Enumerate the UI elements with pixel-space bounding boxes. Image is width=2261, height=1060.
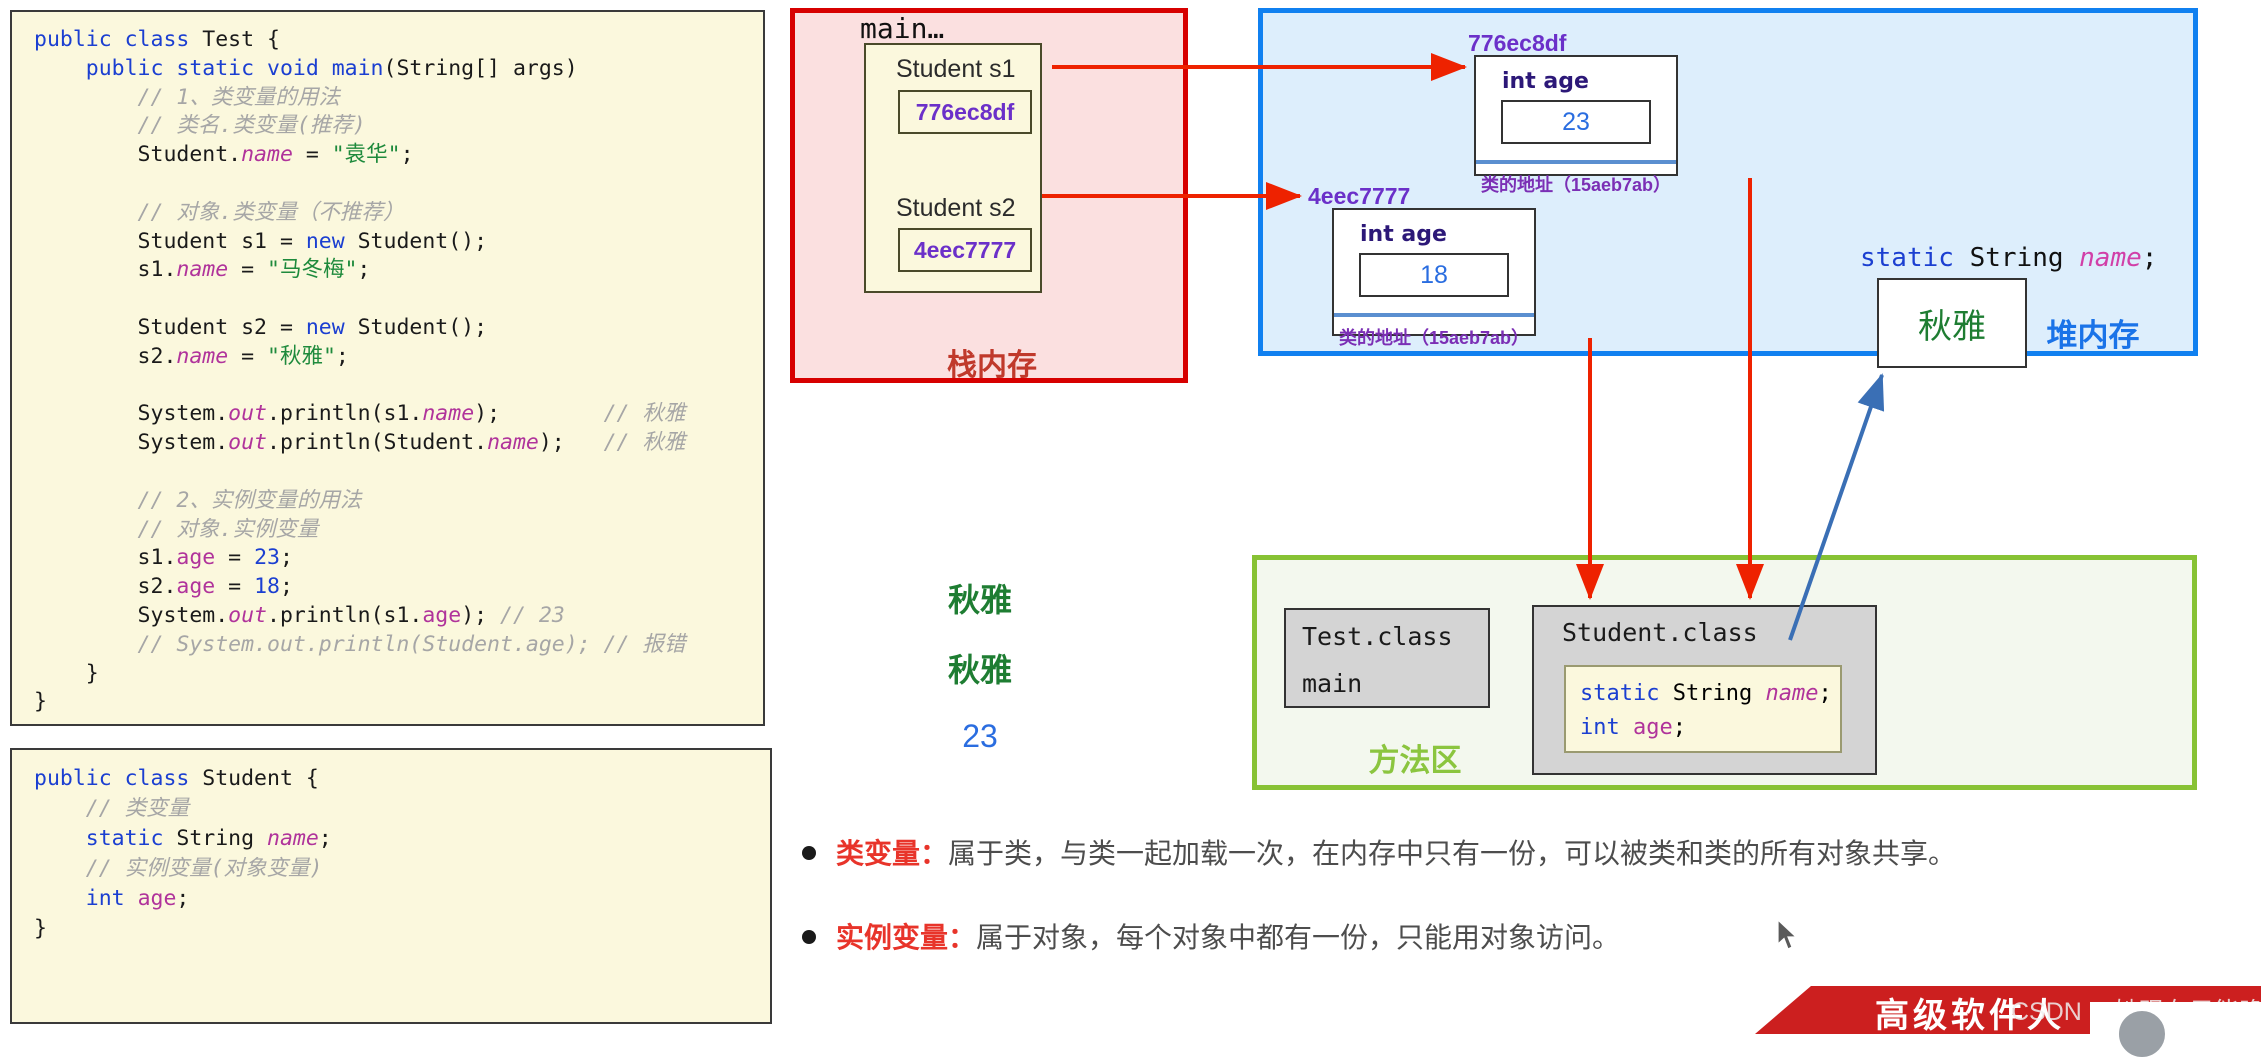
bullet-item-instance-variable: 实例变量：属于对象，每个对象中都有一份，只能用对象访问。 — [802, 916, 2232, 956]
code-line: // 实例变量(对象变量) — [34, 854, 770, 884]
heap-object-1: int age 23 类的地址（15aeb7ab） — [1474, 55, 1678, 176]
static-type: String — [1954, 243, 2079, 273]
code-line: // 类名.类变量(推荐) — [34, 112, 763, 141]
code-token — [34, 56, 86, 81]
stack-var-s2-name: Student s2 — [896, 194, 1016, 223]
code-token: "秋雅" — [267, 344, 336, 369]
code-line: Student.name = "袁华"; — [34, 141, 763, 170]
bullet-term-instance-variable: 实例变量： — [836, 922, 976, 953]
student-class-title: Student.class — [1562, 618, 1875, 647]
code-token: public static void main — [86, 56, 384, 81]
code-token: String — [1659, 681, 1765, 706]
code-token: 18 — [254, 574, 280, 599]
code-token: out — [228, 430, 267, 455]
code-token: ); — [461, 603, 500, 628]
code-token: age — [1633, 715, 1673, 740]
code-token: // 秋雅 — [565, 430, 686, 455]
test-class-title: Test.class — [1302, 622, 1488, 651]
code-token: .println(Student. — [267, 430, 487, 455]
code-token: = — [293, 142, 332, 167]
code-token: // 秋雅 — [500, 401, 685, 426]
code-line: // 1、类变量的用法 — [34, 84, 763, 113]
code-token: // 1、类变量的用法 — [34, 85, 340, 110]
code-token: // 23 — [500, 603, 565, 628]
code-line: System.out.println(Student.name); // 秋雅 — [34, 429, 763, 458]
student-class-fields: static String name;int age; — [1564, 665, 1842, 753]
bullet-term-class-variable: 类变量： — [836, 838, 948, 869]
student-class-field-line: int age; — [1580, 711, 1840, 745]
code-line: System.out.println(s1.name); // 秋雅 — [34, 400, 763, 429]
code-token: public class — [34, 766, 202, 791]
static-semicolon: ; — [2142, 243, 2158, 273]
code-token: = — [215, 545, 254, 570]
code-token: } — [34, 661, 99, 686]
code-token: "马冬梅" — [267, 257, 357, 282]
code-token: "袁华" — [332, 142, 401, 167]
console-output-line-3: 23 — [900, 718, 1060, 755]
code-token: // 类变量 — [34, 796, 189, 821]
stack-var-s1-value: 776ec8df — [916, 99, 1014, 126]
code-panel-student: public class Student { // 类变量 static Str… — [10, 748, 772, 1024]
stack-memory-label: 栈内存 — [932, 340, 1052, 384]
code-token: // 对象.类变量（不推荐） — [34, 200, 404, 225]
code-token: ; — [1673, 715, 1686, 740]
code-token: = — [228, 257, 267, 282]
code-token: name — [487, 430, 539, 455]
heap-object-2-field-label: int age — [1360, 222, 1534, 247]
console-output-line-1: 秋雅 — [900, 575, 1060, 621]
code-token: age — [176, 574, 215, 599]
code-token: // System.out.println(Student.age); // 报… — [34, 632, 685, 657]
code-token: = — [215, 574, 254, 599]
heap-object-2-address: 4eec7777 — [1308, 183, 1410, 210]
code-token: .println(s1. — [267, 401, 422, 426]
method-area-test-class: Test.class main — [1284, 608, 1490, 708]
heap-object-2: int age 18 类的地址（15aeb7ab） — [1332, 208, 1536, 336]
code-token: name — [176, 257, 228, 282]
heap-static-field-declaration: static String name; — [1860, 243, 2157, 273]
code-token: Test { — [202, 27, 280, 52]
code-token: (String[] args) — [384, 56, 578, 81]
stack-var-s2-value-box: 4eec7777 — [898, 228, 1032, 272]
code-line — [34, 285, 763, 314]
code-token: ; — [401, 142, 414, 167]
code-line: } — [34, 914, 770, 944]
stack-var-s1-value-box: 776ec8df — [898, 90, 1032, 134]
code-token: = — [228, 344, 267, 369]
code-token: new — [306, 315, 345, 340]
bullet-item-class-variable: 类变量：属于类，与类一起加载一次，在内存中只有一份，可以被类和类的所有对象共享。 — [802, 832, 2232, 872]
code-token: ); — [474, 401, 500, 426]
heap-object-2-field-value: 18 — [1359, 253, 1509, 297]
stack-var-s1-name: Student s1 — [896, 55, 1016, 84]
code-line: // 对象.实例变量 — [34, 516, 763, 545]
heap-static-value: 秋雅 — [1918, 299, 1986, 348]
code-line: public class Test { — [34, 26, 763, 55]
code-token: int — [34, 886, 125, 911]
mouse-cursor-icon — [1777, 919, 1799, 951]
code-token: s1. — [34, 545, 176, 570]
code-token: System. — [34, 603, 228, 628]
code-token: out — [228, 603, 267, 628]
code-token: Student { — [202, 766, 319, 791]
test-class-member: main — [1302, 669, 1488, 698]
code-lines-student: public class Student { // 类变量 static Str… — [12, 750, 770, 944]
code-line: s2.name = "秋雅"; — [34, 343, 763, 372]
code-line: } — [34, 688, 763, 717]
code-token: int — [1580, 715, 1620, 740]
code-line: s1.name = "马冬梅"; — [34, 256, 763, 285]
bullet-text-class-variable: 属于类，与类一起加载一次，在内存中只有一份，可以被类和类的所有对象共享。 — [948, 838, 1956, 869]
code-token: s2. — [34, 344, 176, 369]
code-line: // System.out.println(Student.age); // 报… — [34, 631, 763, 660]
code-token: name — [176, 344, 228, 369]
watermark-avatar — [2116, 1008, 2168, 1060]
code-token: name — [422, 401, 474, 426]
code-token: String — [163, 826, 267, 851]
code-line: Student s2 = new Student(); — [34, 314, 763, 343]
heap-object-2-class-address: 类的地址（15aeb7ab） — [1334, 313, 1534, 357]
code-token: Student s2 = — [34, 315, 306, 340]
heap-object-1-class-address: 类的地址（15aeb7ab） — [1476, 160, 1676, 203]
code-panel-test: public class Test { public static void m… — [10, 10, 765, 726]
code-token: name — [241, 142, 293, 167]
code-token: s2. — [34, 574, 176, 599]
code-token: System. — [34, 430, 228, 455]
code-line: public static void main(String[] args) — [34, 55, 763, 84]
code-token: age — [138, 886, 177, 911]
code-token: ; — [176, 886, 189, 911]
code-token: } — [34, 689, 47, 714]
code-line: } — [34, 660, 763, 689]
code-token: // 类名.类变量(推荐) — [34, 113, 366, 138]
code-line: // 2、实例变量的用法 — [34, 487, 763, 516]
code-token: ; — [280, 545, 293, 570]
code-token: ; — [319, 826, 332, 851]
code-token: Student(); — [345, 315, 487, 340]
code-token: ; — [280, 574, 293, 599]
code-token: ; — [336, 344, 349, 369]
code-token: ); — [539, 430, 565, 455]
code-token: static — [1580, 681, 1659, 706]
code-token — [1620, 715, 1633, 740]
bullet-dot-icon — [802, 930, 816, 944]
stack-frame-title: main… — [860, 12, 944, 45]
code-line: public class Student { — [34, 764, 770, 794]
code-token: } — [34, 916, 47, 941]
code-token: // 实例变量(对象变量) — [34, 856, 323, 881]
code-token: name — [1765, 681, 1818, 706]
static-field-name: name — [2079, 243, 2142, 273]
heap-object-1-address: 776ec8df — [1468, 30, 1566, 57]
heap-object-1-field-label: int age — [1502, 69, 1676, 94]
heap-object-1-field-value: 23 — [1501, 100, 1651, 144]
student-class-field-line: static String name; — [1580, 677, 1840, 711]
bullet-text-instance-variable: 属于对象，每个对象中都有一份，只能用对象访问。 — [976, 922, 1620, 953]
code-token: Student s1 = — [34, 229, 306, 254]
code-token: // 对象.实例变量 — [34, 517, 318, 542]
console-output-line-2: 秋雅 — [900, 645, 1060, 691]
code-line: System.out.println(s1.age); // 23 — [34, 602, 763, 631]
heap-memory-label: 堆内存 — [2018, 310, 2168, 355]
code-token: .println(s1. — [267, 603, 422, 628]
bullet-dot-icon — [802, 846, 816, 860]
stack-var-s2-value: 4eec7777 — [914, 237, 1016, 264]
code-line — [34, 372, 763, 401]
code-token: System. — [34, 401, 228, 426]
code-token: ; — [1818, 681, 1831, 706]
code-line: s2.age = 18; — [34, 573, 763, 602]
code-token: Student. — [34, 142, 241, 167]
code-token: // 2、实例变量的用法 — [34, 488, 361, 513]
code-token: static — [34, 826, 163, 851]
code-line — [34, 170, 763, 199]
code-line: Student s1 = new Student(); — [34, 228, 763, 257]
code-line: // 类变量 — [34, 794, 770, 824]
static-keyword: static — [1860, 243, 1954, 273]
code-token: public class — [34, 27, 202, 52]
code-line: static String name; — [34, 824, 770, 854]
code-token — [125, 886, 138, 911]
code-token: ; — [357, 257, 370, 282]
code-lines-test: public class Test { public static void m… — [12, 12, 763, 717]
code-token: name — [267, 826, 319, 851]
heap-static-value-box: 秋雅 — [1877, 278, 2027, 368]
code-line — [34, 458, 763, 487]
bullet-list: 类变量：属于类，与类一起加载一次，在内存中只有一份，可以被类和类的所有对象共享。… — [802, 832, 2232, 956]
method-area-label: 方法区 — [1340, 735, 1490, 780]
code-token: new — [306, 229, 345, 254]
code-token: age — [176, 545, 215, 570]
code-line: s1.age = 23; — [34, 544, 763, 573]
code-token: age — [422, 603, 461, 628]
code-token: s1. — [34, 257, 176, 282]
code-line: // 对象.类变量（不推荐） — [34, 199, 763, 228]
method-area-student-class: Student.class static String name;int age… — [1532, 605, 1877, 775]
code-token: out — [228, 401, 267, 426]
code-token: 23 — [254, 545, 280, 570]
code-token: Student(); — [345, 229, 487, 254]
code-line: int age; — [34, 884, 770, 914]
